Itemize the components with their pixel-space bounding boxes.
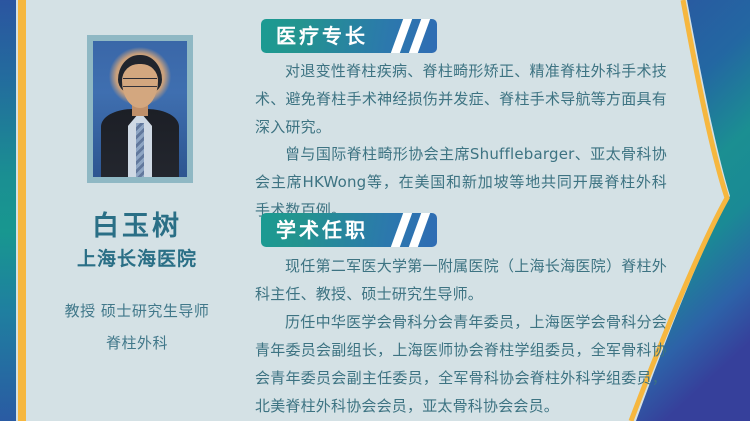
section-badge-label: 医疗专长 [276, 23, 368, 49]
doctor-profile-card: 白玉树 上海长海医院 教授 硕士研究生导师 脊柱外科 医疗专长 对退变性脊柱疾病… [0, 0, 750, 421]
profile-left-column: 白玉树 上海长海医院 教授 硕士研究生导师 脊柱外科 [26, 0, 248, 421]
doctor-department: 脊柱外科 [26, 332, 248, 353]
section-badge-medical-expertise: 医疗专长 [261, 19, 437, 53]
medical-expertise-paragraph-1: 对退变性脊柱疾病、脊柱畸形矫正、精准脊柱外科手术技术、避免脊柱手术神经损伤并发症… [255, 57, 667, 141]
medical-expertise-paragraph-2: 曾与国际脊柱畸形协会主席Shufflebarger、亚太骨科协会主席HKWong… [255, 140, 667, 224]
section-badge-label: 学术任职 [276, 217, 368, 243]
portrait-tie [136, 123, 144, 177]
doctor-hospital: 上海长海医院 [26, 244, 248, 271]
slash-icon [407, 213, 433, 247]
portrait-glasses-icon [123, 78, 157, 87]
left-gradient-accent-bar [0, 0, 16, 421]
slash-icon [407, 19, 433, 53]
portrait-photo [93, 41, 187, 177]
profile-right-column: 医疗专长 对退变性脊柱疾病、脊柱畸形矫正、精准脊柱外科手术技术、避免脊柱手术神经… [255, 0, 695, 421]
academic-appointments-paragraph-1: 现任第二军医大学第一附属医院（上海长海医院）脊柱外科主任、教授、硕士研究生导师。 [255, 252, 667, 308]
section-badge-academic-appointments: 学术任职 [261, 213, 437, 247]
left-orange-accent-bar [18, 0, 26, 421]
portrait-frame [87, 35, 193, 183]
doctor-academic-title: 教授 硕士研究生导师 [26, 300, 248, 321]
academic-appointments-paragraph-2: 历任中华医学会骨科分会青年委员，上海医学会骨科分会青年委员会副组长，上海医师协会… [255, 308, 667, 420]
doctor-name: 白玉树 [26, 204, 248, 243]
